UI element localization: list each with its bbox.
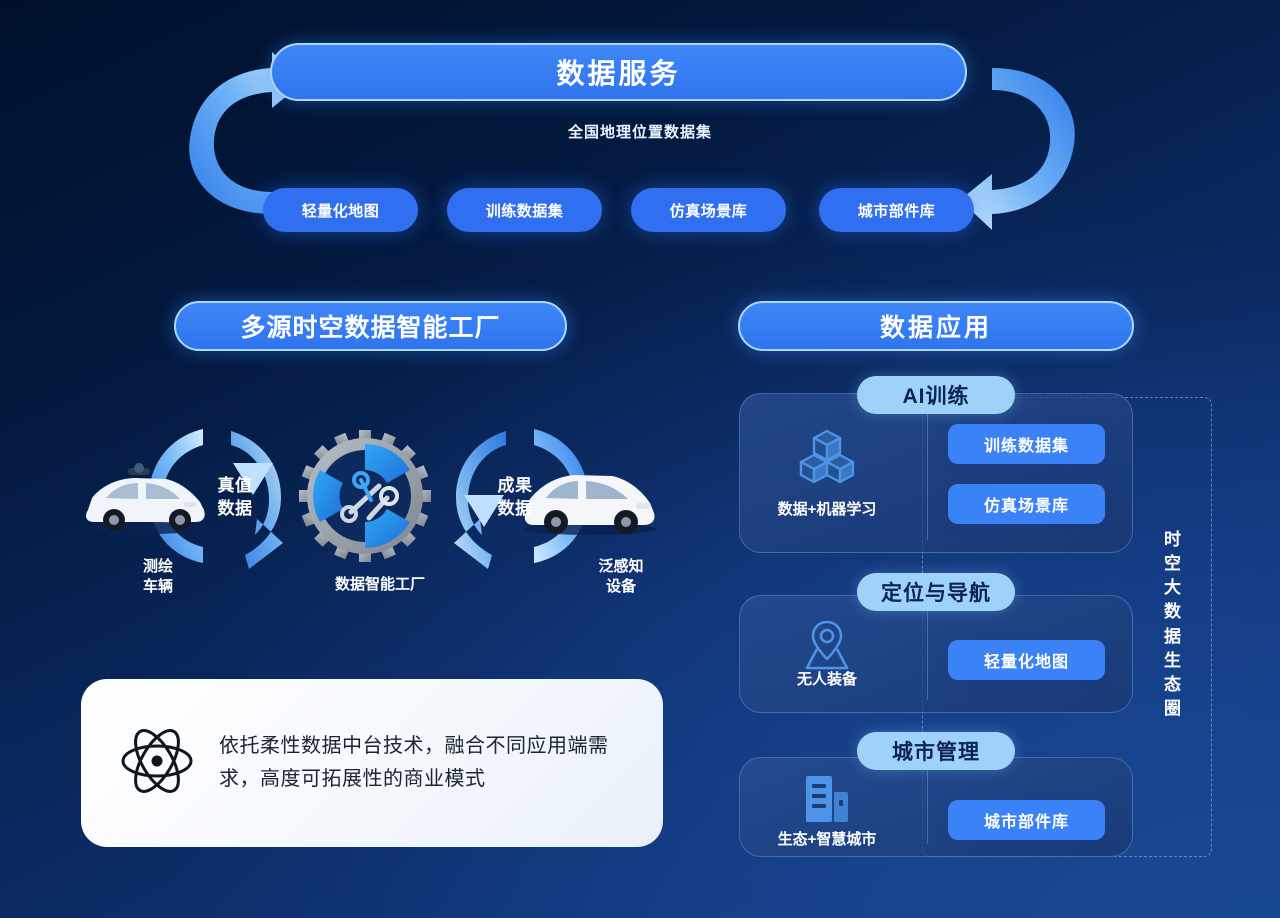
- flow-label-truth-data: 真值数据: [200, 475, 270, 521]
- caption-survey-line2: 车辆: [143, 578, 173, 595]
- panel-divider: [927, 770, 928, 844]
- cubes-icon: [798, 428, 856, 486]
- data-cycle-diagram: 真值数据 成果数据 测绘车辆 数据智能工厂 泛感知设备: [70, 405, 700, 645]
- map-pin-icon: [802, 618, 852, 674]
- panel-icon-label-ml: 数据+机器学习: [757, 498, 897, 519]
- panel-title-ai-training[interactable]: AI训练: [857, 376, 1015, 414]
- cloud-label: 仿真场景库: [670, 200, 748, 221]
- panel-title-positioning-navigation[interactable]: 定位与导航: [857, 573, 1015, 611]
- banner-data-application[interactable]: 数据应用: [738, 301, 1134, 351]
- flow-truth-line2: 数据: [218, 499, 253, 518]
- cloud-item[interactable]: 城市部件库: [819, 188, 974, 232]
- ecosystem-vertical-label: 时空大数据生态圈: [1160, 528, 1186, 721]
- flow-label-result-data: 成果数据: [480, 475, 550, 521]
- caption-survey-vehicle: 测绘车辆: [112, 557, 204, 598]
- gear-factory-icon: [292, 423, 438, 569]
- building-icon: [800, 772, 854, 826]
- caption-sensor-line1: 泛感知: [598, 558, 643, 575]
- panel-title-city-management[interactable]: 城市管理: [857, 732, 1015, 770]
- tag-lightweight-map[interactable]: 轻量化地图: [948, 640, 1105, 680]
- flow-result-line2: 数据: [498, 499, 533, 518]
- panel-divider: [927, 608, 928, 700]
- caption-data-factory: 数据智能工厂: [295, 575, 465, 595]
- banner-data-application-label: 数据应用: [880, 308, 992, 344]
- cloud-label: 城市部件库: [858, 200, 936, 221]
- panel-icon-label-drone: 无人装备: [757, 668, 897, 689]
- cloud-label: 轻量化地图: [302, 200, 380, 221]
- infographic-canvas: 数据服务 全国地理位置数据集 轻量化地图 训练数据集 仿真场景库 城市部件库 多…: [0, 0, 1280, 918]
- flow-truth-line1: 真值: [218, 476, 253, 495]
- banner-data-service-label: 数据服务: [556, 52, 680, 92]
- survey-car-icon: [80, 462, 210, 534]
- caption-sensor-line2: 设备: [606, 578, 636, 595]
- banner-data-service[interactable]: 数据服务: [270, 43, 967, 101]
- cloud-label: 训练数据集: [486, 200, 564, 221]
- atom-icon: [117, 721, 197, 806]
- banner-data-factory-label: 多源时空数据智能工厂: [240, 308, 500, 344]
- tag-training-dataset[interactable]: 训练数据集: [948, 424, 1105, 464]
- flow-result-line1: 成果: [498, 476, 533, 495]
- cloud-item[interactable]: 轻量化地图: [263, 188, 418, 232]
- cloud-item[interactable]: 仿真场景库: [631, 188, 786, 232]
- subtitle-national-dataset: 全国地理位置数据集: [0, 121, 1280, 142]
- caption-sensor-device: 泛感知设备: [575, 557, 667, 598]
- caption-survey-line1: 测绘: [143, 558, 173, 575]
- tag-simulation-scene[interactable]: 仿真场景库: [948, 484, 1105, 524]
- note-card-text: 依托柔性数据中台技术，融合不同应用端需求，高度可拓展性的商业模式: [219, 730, 627, 796]
- panel-divider: [927, 406, 928, 540]
- cloud-item[interactable]: 训练数据集: [447, 188, 602, 232]
- banner-data-factory[interactable]: 多源时空数据智能工厂: [174, 301, 567, 351]
- panel-icon-label-eco-city: 生态+智慧城市: [747, 828, 907, 849]
- tag-city-parts-library[interactable]: 城市部件库: [948, 800, 1105, 840]
- note-card: 依托柔性数据中台技术，融合不同应用端需求，高度可拓展性的商业模式: [81, 679, 663, 847]
